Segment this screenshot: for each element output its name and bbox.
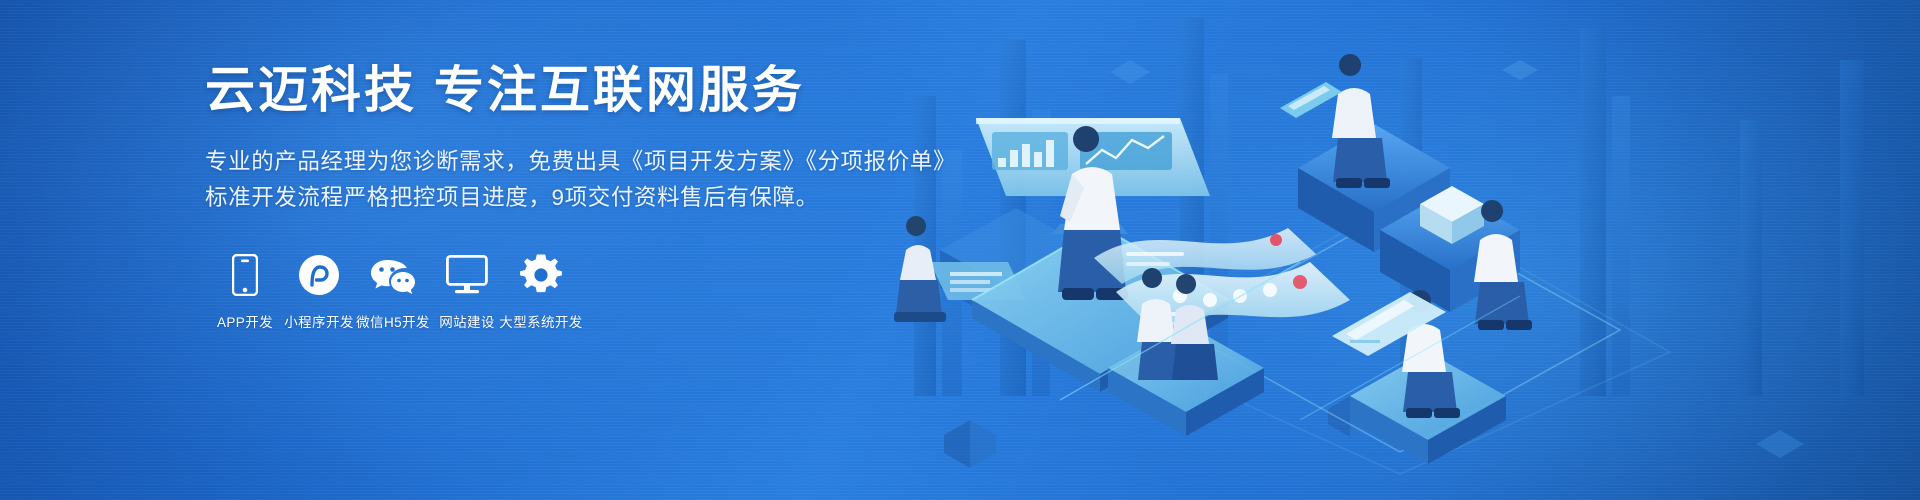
floating-tablet-upper: [1280, 82, 1342, 118]
service-icon-row: APP开发 小程序开发: [205, 253, 905, 331]
service-label-system: 大型系统开发: [499, 311, 582, 331]
service-item-system[interactable]: 大型系统开发: [501, 253, 581, 331]
service-label-website: 网站建设: [439, 311, 495, 331]
gear-icon: [520, 253, 562, 297]
banner-content: 云迈科技 专注互联网服务 专业的产品经理为您诊断需求，免费出具《项目开发方案》《…: [205, 62, 905, 331]
monitor-icon: [446, 253, 488, 297]
service-item-wechat[interactable]: 微信H5开发: [353, 253, 433, 331]
mobile-phone-icon: [232, 253, 258, 297]
service-item-app[interactable]: APP开发: [205, 253, 285, 331]
subtitle-line-2: 标准开发流程严格把控项目进度，9项交付资料售后有保障。: [205, 180, 905, 216]
service-item-website[interactable]: 网站建设: [427, 253, 507, 331]
service-label-app: APP开发: [217, 311, 273, 331]
isometric-illustration: [880, 0, 1920, 500]
hero-banner: 云迈科技 专注互联网服务 专业的产品经理为您诊断需求，免费出具《项目开发方案》《…: [0, 0, 1920, 500]
wechat-icon: [369, 253, 417, 297]
page-title: 云迈科技 专注互联网服务: [205, 62, 905, 118]
subtitle-block: 专业的产品经理为您诊断需求，免费出具《项目开发方案》《分项报价单》 标准开发流程…: [205, 144, 905, 217]
service-label-wechat: 微信H5开发: [356, 311, 430, 331]
service-label-miniprogram: 小程序开发: [284, 311, 354, 331]
service-item-miniprogram[interactable]: 小程序开发: [279, 253, 359, 331]
person-upper-right: [1332, 54, 1390, 188]
subtitle-line-1: 专业的产品经理为您诊断需求，免费出具《项目开发方案》《分项报价单》: [205, 144, 905, 180]
mini-program-icon: [298, 253, 340, 297]
